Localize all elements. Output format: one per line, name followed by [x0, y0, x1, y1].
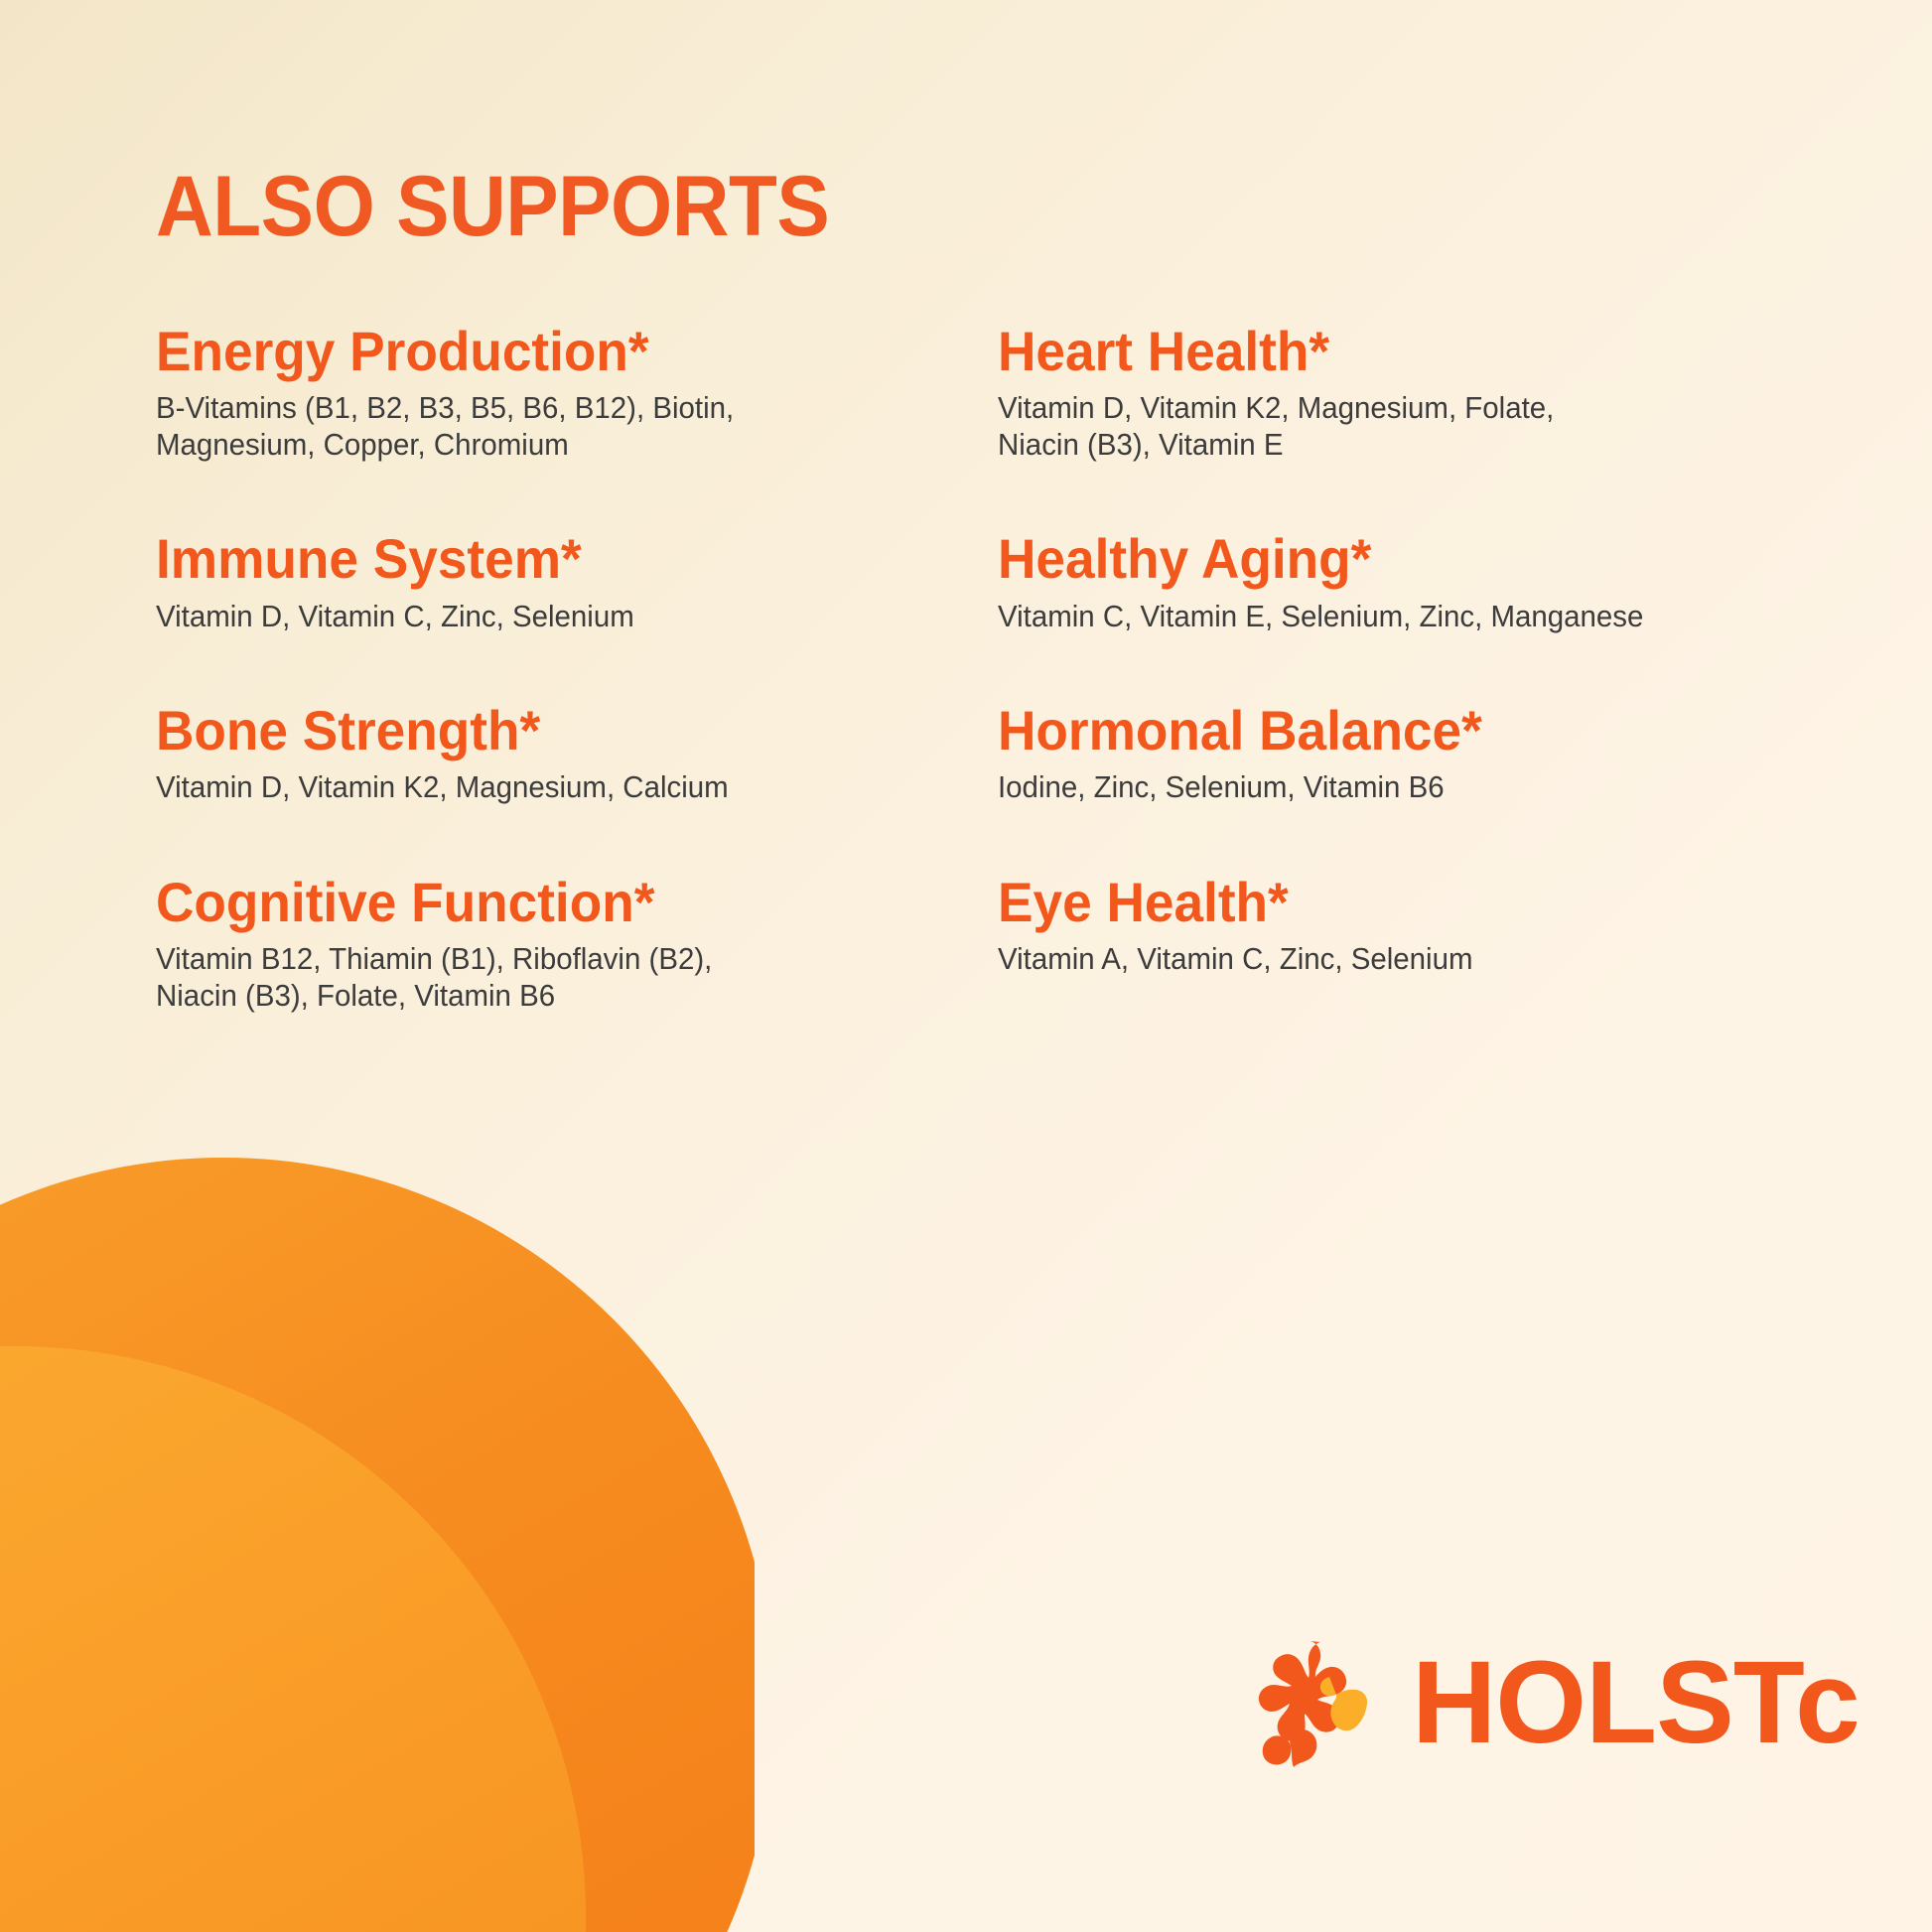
- support-items-hormonal-balance: Iodine, Zinc, Selenium, Vitamin B6: [998, 769, 1743, 806]
- support-items-eye-health: Vitamin A, Vitamin C, Zinc, Selenium: [998, 941, 1743, 978]
- support-items-heart-health: Vitamin D, Vitamin K2, Magnesium, Folate…: [998, 390, 1743, 463]
- support-title-cognitive-function: Cognitive Function*: [156, 874, 816, 931]
- support-items-immune-system: Vitamin D, Vitamin C, Zinc, Selenium: [156, 599, 816, 635]
- support-block-energy-production: Energy Production* B-Vitamins (B1, B2, B…: [156, 323, 851, 463]
- support-block-heart-health: Heart Health* Vitamin D, Vitamin K2, Mag…: [998, 323, 1782, 463]
- brand-wordmark: HOLSTc: [1412, 1644, 1860, 1761]
- brand-logo: HOLSTc: [1249, 1633, 1860, 1772]
- support-items-energy-production: B-Vitamins (B1, B2, B3, B5, B6, B12), Bi…: [156, 390, 816, 463]
- sunburst-pinwheel-icon: [1249, 1633, 1388, 1772]
- support-title-energy-production: Energy Production*: [156, 323, 816, 380]
- support-block-eye-health: Eye Health* Vitamin A, Vitamin C, Zinc, …: [998, 874, 1782, 978]
- support-column-left: Energy Production* B-Vitamins (B1, B2, B…: [156, 323, 851, 1014]
- support-block-cognitive-function: Cognitive Function* Vitamin B12, Thiamin…: [156, 874, 851, 1014]
- support-title-immune-system: Immune System*: [156, 530, 816, 588]
- page-title: ALSO SUPPORTS: [156, 167, 829, 248]
- support-block-hormonal-balance: Hormonal Balance* Iodine, Zinc, Selenium…: [998, 702, 1782, 806]
- support-block-immune-system: Immune System* Vitamin D, Vitamin C, Zin…: [156, 530, 851, 634]
- support-title-hormonal-balance: Hormonal Balance*: [998, 702, 1743, 759]
- support-block-bone-strength: Bone Strength* Vitamin D, Vitamin K2, Ma…: [156, 702, 851, 806]
- support-items-cognitive-function: Vitamin B12, Thiamin (B1), Riboflavin (B…: [156, 941, 816, 1014]
- support-title-eye-health: Eye Health*: [998, 874, 1743, 931]
- support-items-healthy-aging: Vitamin C, Vitamin E, Selenium, Zinc, Ma…: [998, 599, 1743, 635]
- support-title-heart-health: Heart Health*: [998, 323, 1743, 380]
- support-items-bone-strength: Vitamin D, Vitamin K2, Magnesium, Calciu…: [156, 769, 816, 806]
- support-title-healthy-aging: Healthy Aging*: [998, 530, 1743, 588]
- support-block-healthy-aging: Healthy Aging* Vitamin C, Vitamin E, Sel…: [998, 530, 1782, 634]
- support-column-right: Heart Health* Vitamin D, Vitamin K2, Mag…: [998, 323, 1782, 978]
- support-title-bone-strength: Bone Strength*: [156, 702, 816, 759]
